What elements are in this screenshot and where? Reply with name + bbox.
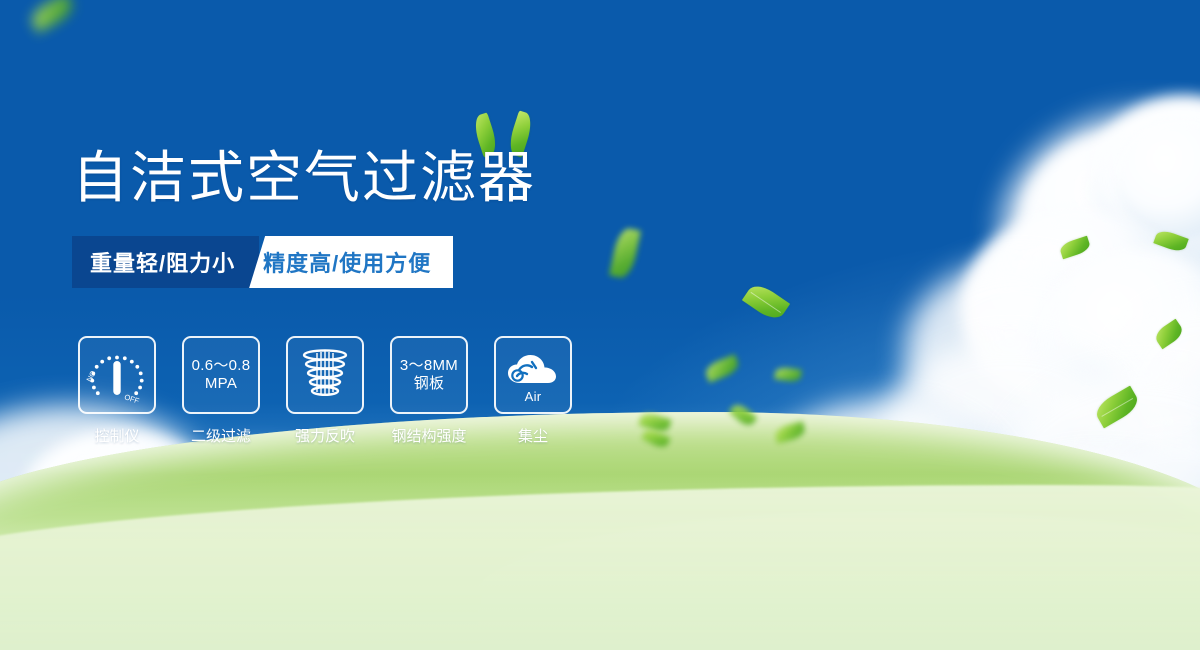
tagline-left: 重量轻/阻力小: [72, 236, 259, 288]
cloud-air-icon-label: Air: [525, 388, 542, 406]
feature-item-steel-strength[interactable]: 3～8MM 钢板 钢结构强度: [390, 336, 468, 446]
svg-text:NO: NO: [85, 369, 98, 383]
feature-icon-box: [286, 336, 364, 414]
tagline-bar: 重量轻/阻力小 精度高/使用方便: [72, 236, 453, 288]
feature-item-strong-backblow[interactable]: 强力反吹: [286, 336, 364, 446]
coil-spring-icon: [296, 345, 354, 405]
feature-list: NO OFF 控制仪 0.6～0.8 MPA 二级过滤: [78, 336, 572, 446]
svg-text:OFF: OFF: [123, 392, 140, 405]
feature-item-control-meter[interactable]: NO OFF 控制仪: [78, 336, 156, 446]
pressure-text-icon-line1: 0.6～0.8: [192, 357, 251, 375]
feature-label: 强力反吹: [295, 425, 355, 446]
steel-plate-text-icon-line1: 3～8MM: [400, 357, 458, 375]
feature-label: 钢结构强度: [391, 425, 466, 446]
feature-icon-box: NO OFF: [78, 336, 156, 414]
feature-icon-box: Air: [494, 336, 572, 414]
pressure-text-icon-line2: MPA: [205, 375, 237, 393]
feature-icon-box: 0.6～0.8 MPA: [182, 336, 260, 414]
feature-label: 集尘: [518, 425, 548, 446]
page-title: 自洁式空气过滤器: [72, 147, 536, 209]
feature-item-two-stage-filter[interactable]: 0.6～0.8 MPA 二级过滤: [182, 336, 260, 446]
gauge-icon: NO OFF: [85, 345, 149, 405]
feature-label: 二级过滤: [191, 425, 251, 446]
cloud-air-icon: [503, 350, 563, 386]
tagline-right: 精度高/使用方便: [249, 236, 453, 288]
feature-label: 控制仪: [94, 425, 139, 446]
feature-icon-box: 3～8MM 钢板: [390, 336, 468, 414]
product-banner: 自洁式空气过滤器 重量轻/阻力小 精度高/使用方便: [0, 0, 1200, 650]
steel-plate-text-icon-line2: 钢板: [414, 375, 445, 393]
feature-item-dust-collection[interactable]: Air 集尘: [494, 336, 572, 446]
